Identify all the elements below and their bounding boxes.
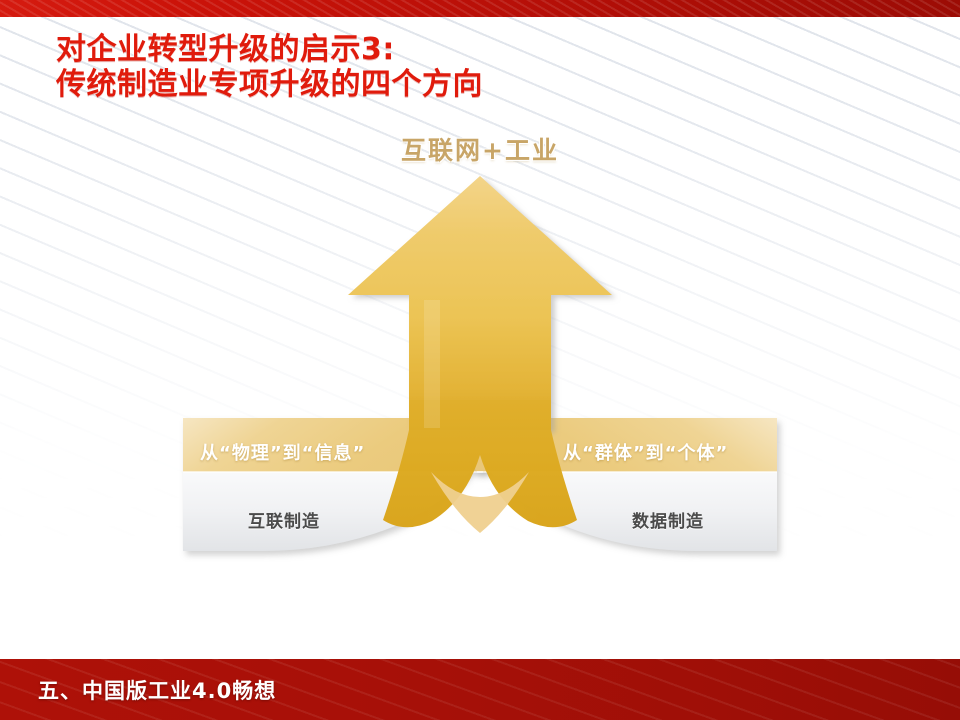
pillar-right-band-label: 从“群体”到“个体” <box>563 439 728 465</box>
pillar-right-base-label: 数据制造 <box>632 507 704 532</box>
arrow-body <box>348 176 612 430</box>
pillar-left-base-label: 互联制造 <box>248 507 320 532</box>
presentation-slide: 对企业转型升级的启示3: 传统制造业专项升级的四个方向 <box>0 0 960 720</box>
pillar-left-band-label: 从“物理”到“信息” <box>200 439 365 465</box>
footer-section-label: 五、中国版工业4.0畅想 <box>38 675 276 705</box>
footer-bar: 五、中国版工业4.0畅想 <box>0 659 960 720</box>
upward-arrow <box>348 176 612 430</box>
arrow-highlight <box>424 300 440 428</box>
arrow-top-label: 互联网+工业 <box>0 131 960 167</box>
upward-arrow-diagram <box>0 0 960 660</box>
